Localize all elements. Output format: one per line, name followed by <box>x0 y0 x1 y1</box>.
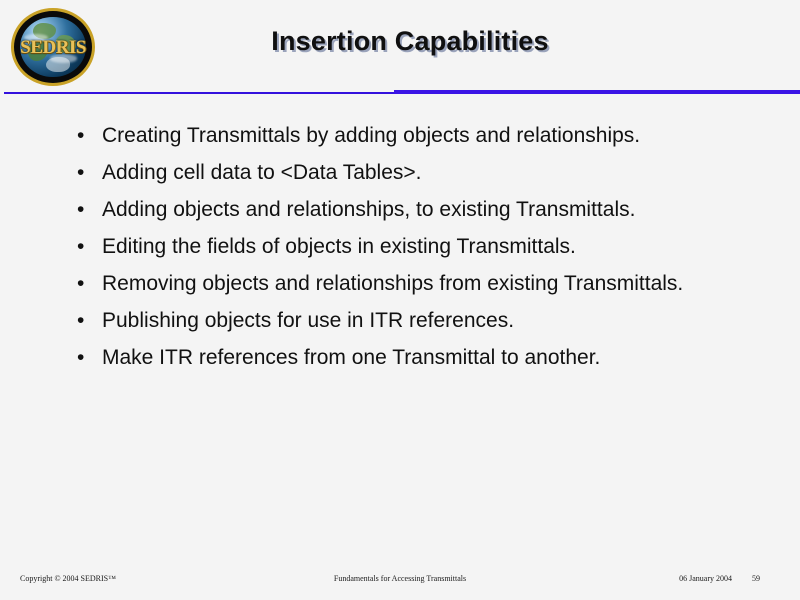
logo-disc: SEDRIS <box>11 8 95 86</box>
bullet-icon: • <box>70 122 102 149</box>
bullet-icon: • <box>70 159 102 186</box>
list-item: • Make ITR references from one Transmitt… <box>70 344 770 371</box>
list-item: • Creating Transmittals by adding object… <box>70 122 770 149</box>
list-item: • Adding objects and relationships, to e… <box>70 196 770 223</box>
list-item-label: Adding cell data to <Data Tables>. <box>102 159 702 186</box>
bullet-icon: • <box>70 307 102 334</box>
footer-date: 06 January 2004 <box>679 574 732 583</box>
list-item-label: Adding objects and relationships, to exi… <box>102 196 702 223</box>
list-item: • Editing the fields of objects in exist… <box>70 233 770 260</box>
list-item-label: Publishing objects for use in ITR refere… <box>102 307 742 334</box>
bullet-list: • Creating Transmittals by adding object… <box>70 122 770 381</box>
slide-footer: Copyright © 2004 SEDRIS™ Fundamentals fo… <box>0 572 800 588</box>
divider-line-right <box>394 90 800 94</box>
slide-title: Insertion Capabilities <box>110 26 710 57</box>
list-item: • Removing objects and relationships fro… <box>70 270 770 297</box>
list-item: • Adding cell data to <Data Tables>. <box>70 159 770 186</box>
bullet-icon: • <box>70 196 102 223</box>
list-item-label: Editing the fields of objects in existin… <box>102 233 742 260</box>
bullet-icon: • <box>70 233 102 260</box>
list-item-label: Creating Transmittals by adding objects … <box>102 122 702 149</box>
logo-wordmark: SEDRIS <box>14 38 92 57</box>
footer-page-number: 59 <box>752 574 760 583</box>
divider-line-left <box>4 92 396 94</box>
list-item: • Publishing objects for use in ITR refe… <box>70 307 770 334</box>
sedris-globe-logo: SEDRIS <box>8 8 98 86</box>
list-item-label: Make ITR references from one Transmittal… <box>102 344 742 371</box>
bullet-icon: • <box>70 344 102 371</box>
list-item-label: Removing objects and relationships from … <box>102 270 702 297</box>
bullet-icon: • <box>70 270 102 297</box>
slide: SEDRIS Insertion Capabilities • Creating… <box>0 0 800 600</box>
